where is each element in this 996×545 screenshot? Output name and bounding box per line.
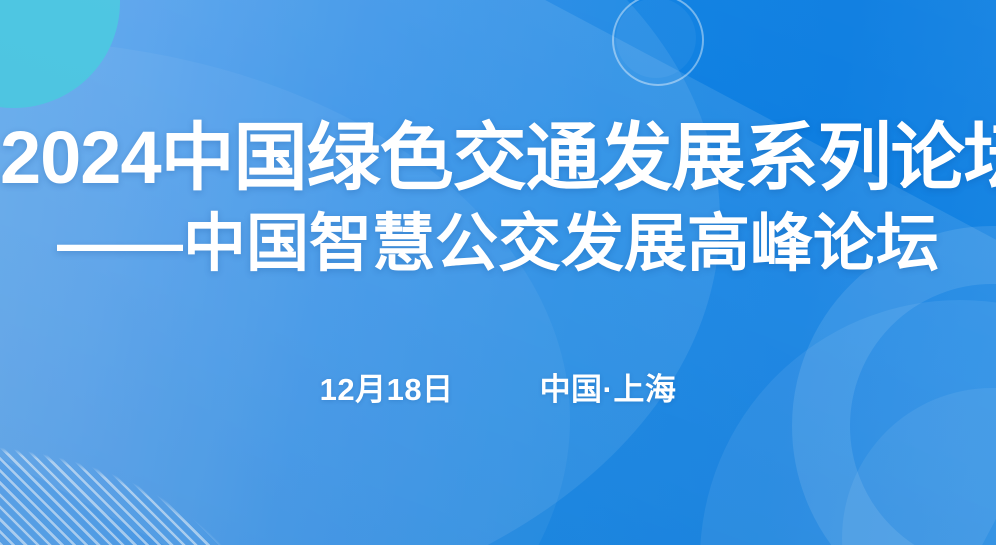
banner-subtitle: ——中国智慧公交发展高峰论坛 (0, 205, 996, 283)
event-banner: 2024中国绿色交通发展系列论坛 ——中国智慧公交发展高峰论坛 12月18日 中… (0, 0, 996, 545)
banner-main-title: 2024中国绿色交通发展系列论坛 (0, 115, 996, 201)
banner-meta-row: 12月18日 中国·上海 (0, 370, 996, 410)
banner-content: 2024中国绿色交通发展系列论坛 ——中国智慧公交发展高峰论坛 12月18日 中… (0, 0, 996, 545)
banner-date: 12月18日 (320, 370, 454, 410)
banner-location: 中国·上海 (540, 370, 677, 410)
